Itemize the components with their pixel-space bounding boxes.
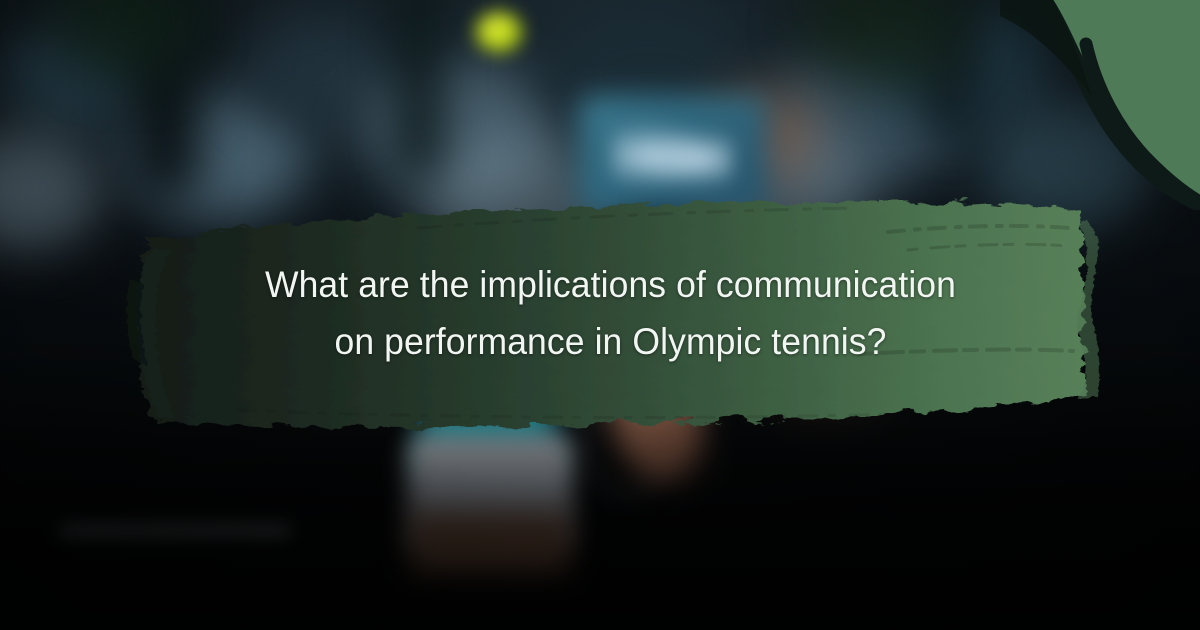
question-banner: What are the implications of communicati… — [118, 188, 1103, 438]
question-text: What are the implications of communicati… — [138, 256, 1084, 370]
question-card: What are the implications of communicati… — [0, 0, 1200, 630]
